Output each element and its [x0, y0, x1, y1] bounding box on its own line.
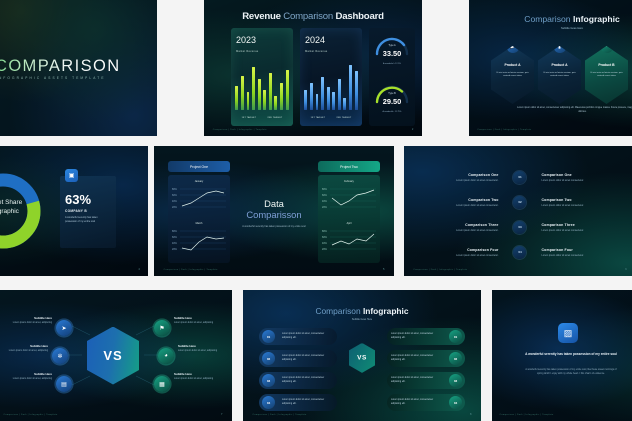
page-number: 8 — [470, 413, 471, 416]
bar — [355, 71, 358, 111]
row-right-text: Lorem ipsum dolor sit amet consectetur. — [541, 179, 632, 182]
row-right-title: Comparison Two — [541, 198, 632, 202]
bar — [274, 96, 277, 110]
slide-revenue-dashboard[interactable]: Revenue Comparison Dashboard 2023 Market… — [204, 0, 422, 136]
row-right: Comparison FourLorem ipsum dolor sit ame… — [530, 248, 632, 257]
legend-2023: 1ST TARGET 2ND TARGET — [236, 117, 288, 119]
table-row[interactable]: Comparison TwoLorem ipsum dolor sit amet… — [404, 189, 632, 215]
row-left: Comparison ThreeLorem ipsum dolor sit am… — [404, 223, 510, 232]
node-heading: Subtitle Here — [174, 372, 228, 376]
pill-right[interactable]: Lorem ipsum dolor sit amet, consectetuer… — [387, 350, 465, 367]
bar — [269, 73, 272, 111]
node-heading: Subtitle Here — [0, 344, 48, 348]
bar — [304, 90, 307, 111]
pill-text: Lorem ipsum dolor sit amet, consectetuer… — [278, 399, 337, 407]
node-heading: Subtitle Here — [0, 316, 52, 320]
legend-2024: 1ST TARGET 2ND TARGET — [305, 117, 357, 119]
svg-text:60%: 60% — [322, 236, 328, 239]
donut-title-line2: Infographic — [0, 208, 19, 215]
pill-right[interactable]: Lorem ipsum dolor sit amet, consectetuer… — [387, 394, 465, 411]
bar — [327, 87, 330, 111]
product-name: Product A — [538, 63, 581, 67]
gauge-type-a: Type A 33.50 A wonderful • 12.5% — [369, 30, 415, 74]
share-percent: 63% — [65, 192, 91, 207]
table-row[interactable]: Comparison ThreeLorem ipsum dolor sit am… — [404, 214, 632, 240]
revenue-card-2024[interactable]: 2024 Market Revenue 1ST TARGET 2ND TARGE… — [300, 28, 362, 126]
table-row[interactable]: Comparison FourLorem ipsum dolor sit ame… — [404, 239, 632, 265]
row-right-title: Comparison Four — [541, 248, 632, 252]
row-number: 02 — [510, 196, 531, 209]
title-part2: Infographic — [363, 306, 409, 316]
title-line2: Comparisson — [154, 209, 394, 220]
gauge-caption: A wonderful • 12.5% — [369, 63, 415, 65]
pill-text: Lorem ipsum dolor sit amet, consectetuer… — [278, 333, 337, 341]
row-right-text: Lorem ipsum dolor sit amet consectetur. — [541, 204, 632, 207]
row-right: Comparison ThreeLorem ipsum dolor sit am… — [530, 223, 632, 232]
donut-chart: Market Share Infographic — [0, 168, 46, 254]
building-icon[interactable]: ▦ — [154, 376, 170, 392]
slide-quote[interactable]: ▨ A wonderful serenity has taken possess… — [492, 290, 632, 421]
donut-title-line1: Market Share — [0, 199, 22, 206]
table-row[interactable]: Comparison OneLorem ipsum dolor sit amet… — [404, 164, 632, 190]
page-number: 4 — [138, 268, 139, 271]
pill-number: 04 — [262, 396, 275, 409]
node-text: Lorem ipsum dolor sit amet, adipiscing — [174, 322, 228, 326]
svg-text:40%: 40% — [172, 242, 178, 245]
donut-center-title: Market Share Infographic — [0, 199, 46, 216]
hexagons-subtitle: Subtitle Goes Here — [469, 27, 632, 30]
bar — [263, 90, 266, 111]
pill-text: Lorem ipsum dolor sit amet, consectetuer… — [278, 355, 337, 363]
pill-text: Lorem ipsum dolor sit amet, consectetuer… — [387, 355, 446, 363]
page-number: 2 — [412, 128, 413, 131]
row-right-title: Comparison One — [541, 173, 632, 177]
row-number: 04 — [510, 246, 531, 259]
data-comparison-title: Data Comparisson A wonderful serenity ha… — [154, 198, 394, 229]
bar — [310, 83, 313, 110]
gauge-label: Type B — [369, 92, 415, 95]
dashboard-title-part2: Comparison — [283, 11, 333, 22]
product-name: Product B — [585, 63, 628, 67]
quote-heading: A wonderful serenity has taken possessio… — [522, 352, 620, 358]
legend-item: 1ST TARGET — [311, 117, 326, 119]
wheel-node-label: Subtitle HereLorem ipsum dolor sit amet,… — [174, 372, 228, 381]
pill-left[interactable]: 01Lorem ipsum dolor sit amet, consectetu… — [259, 328, 337, 345]
slide-footer: Comparison | Dark | Infographic | Templa… — [164, 269, 218, 271]
wheel-node-label: Subtitle HereLorem ipsum dolor sit amet,… — [178, 344, 232, 353]
row-left: Comparison FourLorem ipsum dolor sit ame… — [404, 248, 510, 257]
bar — [280, 83, 283, 110]
row-left-text: Lorem ipsum dolor sit amet consectetur. — [404, 204, 499, 207]
dashboard-title-part1: Revenue — [242, 11, 281, 22]
mini-chart-label: February — [322, 180, 377, 183]
bar — [316, 94, 319, 110]
pills-subtitle: Subtitle Goes Here — [243, 318, 481, 321]
gauge-caption: A wonderful • 11.75% — [369, 111, 415, 113]
pill-number: 04 — [449, 396, 462, 409]
title-part1: Comparison — [315, 306, 360, 316]
row-left-text: Lorem ipsum dolor sit amet consectetur. — [404, 229, 499, 232]
slide-data-comparison[interactable]: Project One January 80%60% 40%20% M — [154, 146, 394, 276]
slide-comparison-list[interactable]: Comparison OneLorem ipsum dolor sit amet… — [404, 146, 632, 276]
bar — [235, 86, 238, 110]
briefcase-icon[interactable]: ▤ — [56, 376, 72, 392]
node-text: Lorem ipsum dolor sit amet, adipiscing — [174, 378, 228, 382]
bar — [343, 98, 346, 110]
gauge-type-b: Type B 29.50 A wonderful • 11.75% — [369, 78, 415, 122]
wheel-node-label: Subtitle HereLorem ipsum dolor sit amet,… — [174, 316, 228, 325]
node-text: Lorem ipsum dolor sit amet, adipiscing — [0, 378, 52, 382]
page-number: 7 — [221, 413, 222, 416]
legend-item: 2ND TARGET — [336, 117, 351, 119]
product-name: Product A — [491, 63, 534, 67]
card-caption: Market Revenue — [305, 50, 328, 53]
wheel-node-label: Subtitle HereLorem ipsum dolor sit amet,… — [0, 372, 52, 381]
product-hexagon[interactable]: 💬Product AUt wisi enim ad minim veniam, … — [491, 46, 534, 104]
slide-vs-wheel[interactable]: VS ➤Subtitle HereLorem ipsum dolor sit a… — [0, 290, 232, 421]
row-right: Comparison OneLorem ipsum dolor sit amet… — [530, 173, 632, 182]
pill-left[interactable]: 02Lorem ipsum dolor sit amet, consectetu… — [259, 350, 337, 367]
wheel-node-label: Subtitle HereLorem ipsum dolor sit amet,… — [0, 316, 52, 325]
revenue-card-2023[interactable]: 2023 Market Revenue 1ST TARGET 2ND TARGE… — [231, 28, 293, 126]
svg-text:40%: 40% — [322, 242, 328, 245]
slide-market-share[interactable]: Market Share Infographic ▣ 63% COMPANY B… — [0, 146, 148, 276]
pill-text: Lorem ipsum dolor sit amet, consectetuer… — [387, 333, 446, 341]
row-right-text: Lorem ipsum dolor sit amet consectetur. — [541, 254, 632, 257]
cover-subtitle: INFOGRAPHIC ASSETS TEMPLATE — [0, 76, 106, 80]
row-right-title: Comparison Three — [541, 223, 632, 227]
gauge-card[interactable]: Type A 33.50 A wonderful • 12.5% Type B … — [369, 28, 415, 126]
product-text: Ut wisi enim ad minim veniam, quis nostr… — [496, 72, 529, 79]
quote-body: A wonderful serenity has taken possessio… — [524, 368, 618, 377]
row-left-text: Lorem ipsum dolor sit amet consectetur. — [404, 254, 499, 257]
node-heading: Subtitle Here — [0, 372, 52, 376]
hexagon-row: 💬Product AUt wisi enim ad minim veniam, … — [491, 46, 632, 104]
pill-number: 02 — [449, 352, 462, 365]
bar — [241, 76, 244, 111]
card-year: 2024 — [305, 35, 325, 45]
svg-text:80%: 80% — [172, 230, 178, 233]
row-left-title: Comparison Three — [404, 223, 499, 227]
svg-text:20%: 20% — [322, 248, 328, 251]
svg-text:80%: 80% — [322, 230, 328, 233]
bar — [247, 92, 250, 110]
svg-text:60%: 60% — [172, 194, 178, 197]
gauge-value: 29.50 — [369, 97, 415, 106]
card-year: 2023 — [236, 35, 256, 45]
company-name: COMPANY B — [65, 209, 87, 213]
gear-icon[interactable]: ✲ — [52, 348, 68, 364]
row-right-text: Lorem ipsum dolor sit amet consectetur. — [541, 229, 632, 232]
wheel-node-label: Subtitle HereLorem ipsum dolor sit amet,… — [0, 344, 48, 353]
product-hexagon[interactable]: ❝Product BUt wisi enim ad minim veniam, … — [585, 46, 628, 104]
title-line1: Data — [154, 198, 394, 209]
slide-vs-pills[interactable]: Comparison Infographic Subtitle Goes Her… — [243, 290, 481, 421]
pills-title: Comparison Infographic — [243, 306, 481, 316]
row-number: 01 — [510, 171, 531, 184]
bar — [321, 77, 324, 110]
node-heading: Subtitle Here — [178, 344, 232, 348]
pill-number: 02 — [262, 352, 275, 365]
title-description: A wonderful serenity has taken possessio… — [154, 225, 394, 229]
row-left-title: Comparison Two — [404, 198, 499, 202]
card-caption: Market Revenue — [236, 50, 259, 53]
node-text: Lorem ipsum dolor sit amet, adipiscing — [178, 350, 232, 354]
gauge-value: 33.50 — [369, 49, 415, 58]
company-description: A wonderful serenity has taken possessio… — [65, 216, 109, 224]
legend-item: 2ND TARGET — [267, 117, 282, 119]
row-left-title: Comparison Four — [404, 248, 499, 252]
dashboard-title: Revenue Comparison Dashboard — [204, 11, 422, 22]
row-left: Comparison TwoLorem ipsum dolor sit amet… — [404, 198, 510, 207]
tab-project-two[interactable]: Project Two — [318, 161, 380, 172]
pill-right[interactable]: Lorem ipsum dolor sit amet, consectetuer… — [387, 372, 465, 389]
slide-footer: Comparison | Dark | Infographic | Templa… — [477, 129, 531, 131]
slide-footer: Comparison | Dark | Infographic | Templa… — [213, 129, 267, 131]
hexagons-title: Comparison Infographic — [469, 14, 632, 24]
dashboard-title-part3: Dashboard — [335, 11, 383, 22]
bar — [286, 70, 289, 110]
title-part1: Comparison — [524, 14, 570, 24]
node-text: Lorem ipsum dolor sit amet, adipiscing — [0, 350, 48, 354]
line-chart-svg: 80%60% 40%20% — [322, 228, 377, 254]
slide-footer: Comparison | Dark | Infographic | Templa… — [4, 414, 58, 416]
pie-icon[interactable]: ◕ — [158, 348, 174, 364]
pill-text: Lorem ipsum dolor sit amet, consectetuer… — [387, 377, 446, 385]
pill-number: 03 — [449, 374, 462, 387]
hexagons-paragraph: Lorem ipsum dolor sit amet, consectetuer… — [514, 106, 632, 114]
product-text: Ut wisi enim ad minim veniam, quis nostr… — [543, 72, 576, 79]
pill-number: 01 — [262, 330, 275, 343]
svg-text:80%: 80% — [322, 188, 328, 191]
image-chart-icon: ▨ — [558, 323, 578, 343]
row-right: Comparison TwoLorem ipsum dolor sit amet… — [530, 198, 632, 207]
title-part2: Infographic — [573, 14, 620, 24]
svg-text:60%: 60% — [322, 194, 328, 197]
bar-chart-2024 — [304, 63, 357, 110]
bar — [252, 67, 255, 110]
node-heading: Subtitle Here — [174, 316, 228, 320]
line-chart-svg: 80%60% 40%20% — [172, 228, 227, 254]
slide-footer: Comparison | Dark | Infographic | Templa… — [413, 269, 467, 271]
slide-cover[interactable]: COMPARISON INFOGRAPHIC ASSETS TEMPLATE — [0, 0, 157, 136]
pill-right[interactable]: Lorem ipsum dolor sit amet, consectetuer… — [387, 328, 465, 345]
node-text: Lorem ipsum dolor sit amet, adipiscing — [0, 322, 52, 326]
bar — [332, 92, 335, 111]
svg-text:60%: 60% — [172, 236, 178, 239]
page-number: 6 — [625, 268, 626, 271]
bar — [258, 79, 261, 110]
slide-product-hexagons[interactable]: Comparison Infographic Subtitle Goes Her… — [469, 0, 632, 136]
pill-text: Lorem ipsum dolor sit amet, consectetuer… — [387, 399, 446, 407]
tab-project-one[interactable]: Project One — [168, 161, 230, 172]
flag-icon[interactable]: ⚑ — [154, 320, 170, 336]
legend-item: 1ST TARGET — [242, 117, 257, 119]
row-number: 03 — [510, 221, 531, 234]
product-text: Ut wisi enim ad minim veniam, quis nostr… — [590, 72, 623, 79]
pill-number: 01 — [449, 330, 462, 343]
pill-left[interactable]: 04Lorem ipsum dolor sit amet, consectetu… — [259, 394, 337, 411]
pill-text: Lorem ipsum dolor sit amet, consectetuer… — [278, 377, 337, 385]
slide-footer: Comparison | Dark | Infographic | Templa… — [500, 414, 554, 416]
gauge-label: Type A — [369, 44, 415, 47]
product-hexagon[interactable]: ▮Product AUt wisi enim ad minim veniam, … — [538, 46, 581, 104]
thumbnail-grid: COMPARISON INFOGRAPHIC ASSETS TEMPLATE R… — [0, 0, 632, 421]
bar — [349, 65, 352, 110]
market-share-card[interactable]: ▣ 63% COMPANY B A wonderful serenity has… — [60, 176, 116, 248]
send-icon[interactable]: ➤ — [56, 320, 72, 336]
row-left-text: Lorem ipsum dolor sit amet consectetur. — [404, 179, 499, 182]
row-left-title: Comparison One — [404, 173, 499, 177]
svg-text:20%: 20% — [172, 248, 178, 251]
page-number: 5 — [383, 268, 384, 271]
pill-number: 03 — [262, 374, 275, 387]
chart-icon: ▣ — [65, 169, 78, 182]
svg-text:80%: 80% — [172, 188, 178, 191]
row-left: Comparison OneLorem ipsum dolor sit amet… — [404, 173, 510, 182]
cover-title: COMPARISON — [0, 57, 121, 76]
bar — [338, 79, 341, 110]
slide-footer: Comparison | Dark | Infographic | Templa… — [253, 414, 307, 416]
bar-chart-2023 — [235, 63, 288, 110]
mini-chart-label: January — [172, 180, 227, 183]
pill-left[interactable]: 03Lorem ipsum dolor sit amet, consectetu… — [259, 372, 337, 389]
